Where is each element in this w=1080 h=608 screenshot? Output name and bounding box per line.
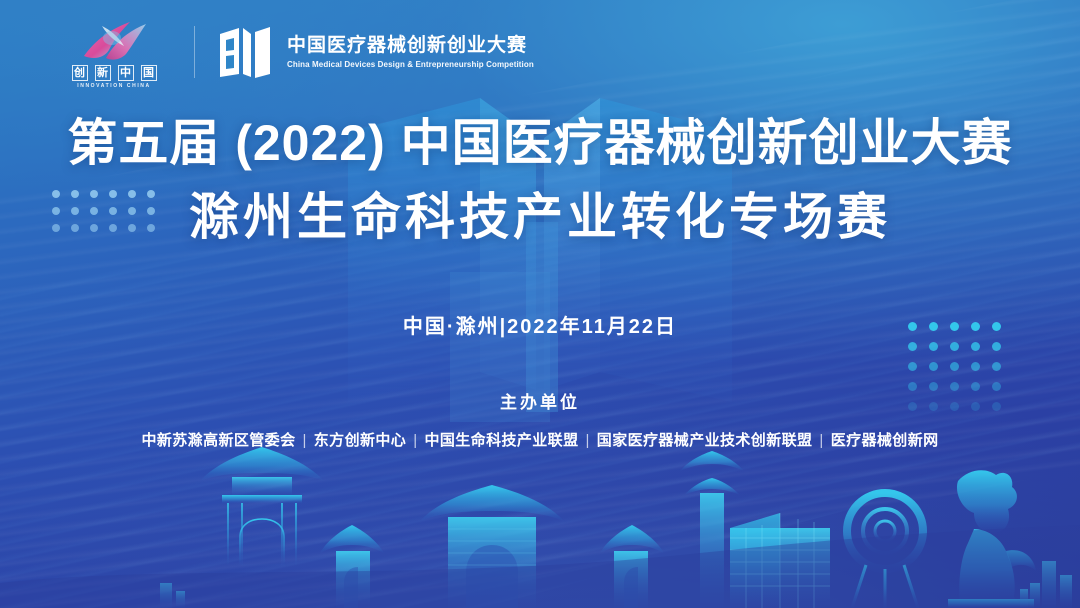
organizer-separator: |: [812, 432, 830, 449]
decorative-dot: [971, 362, 980, 371]
organizer-separator: |: [579, 432, 597, 449]
char-3: 国: [141, 65, 157, 81]
decorative-dot: [950, 362, 959, 371]
bird-swirl-icon: [76, 16, 152, 62]
organizers-section: 主办单位 中新苏滁高新区管委会|东方创新中心|中国生命科技产业联盟|国家医疗器械…: [0, 388, 1080, 450]
organizer-item: 中国生命科技产业联盟: [424, 432, 578, 449]
decorative-dot: [908, 342, 917, 351]
innovation-china-english: INNOVATION CHINA: [77, 83, 150, 89]
date-location-line: 中国·滁州|2022年11月22日: [0, 310, 1080, 339]
competition-name-zh: 中国医疗器械创新创业大赛: [287, 35, 534, 57]
decorative-dot: [929, 362, 938, 371]
decorative-dot: [950, 342, 959, 351]
poster-title: 第五届 (2022) 中国医疗器械创新创业大赛 滁州生命科技产业转化专场赛: [0, 112, 1080, 248]
competition-name-en: China Medical Devices Design & Entrepren…: [287, 59, 534, 70]
chinese-tower-icon: [680, 451, 744, 608]
poster-header: 创 新 中 国 INNOVATION CHINA 中国医疗器械创新创业大赛 Ch…: [0, 0, 1080, 104]
organizer-item: 东方创新中心: [314, 432, 406, 449]
decorative-dot: [971, 342, 980, 351]
char-2: 中: [118, 65, 134, 81]
char-1: 新: [95, 65, 111, 81]
organizers-label: 主办单位: [0, 388, 1080, 413]
decorative-dot: [992, 362, 1001, 371]
chinese-city-gate-icon: [320, 485, 664, 608]
innovation-china-chars: 创 新 中 国: [72, 65, 157, 81]
chinese-pavilion-icon: [200, 447, 324, 567]
char-0: 创: [72, 65, 88, 81]
event-poster: 创 新 中 国 INNOVATION CHINA 中国医疗器械创新创业大赛 Ch…: [0, 0, 1080, 608]
title-line-2: 滁州生命科技产业转化专场赛: [0, 186, 1080, 248]
organizer-separator: |: [295, 432, 313, 449]
open-book-gate-icon: [217, 24, 273, 80]
decorative-dot: [908, 362, 917, 371]
organizer-item: 国家医疗器械产业技术创新联盟: [597, 432, 813, 449]
innovation-china-logo: 创 新 中 国 INNOVATION CHINA: [62, 16, 166, 89]
organizer-separator: |: [406, 432, 424, 449]
city-skyline-silhouette: [0, 433, 1080, 608]
header-divider: [194, 26, 195, 78]
decorative-dot: [992, 342, 1001, 351]
competition-logo-text: 中国医疗器械创新创业大赛 China Medical Devices Desig…: [287, 35, 534, 70]
organizer-item: 医疗器械创新网: [831, 432, 939, 449]
competition-logo: 中国医疗器械创新创业大赛 China Medical Devices Desig…: [217, 24, 534, 80]
title-line-1: 第五届 (2022) 中国医疗器械创新创业大赛: [0, 112, 1080, 174]
city-buildings-icon: [160, 561, 1072, 608]
circular-sculpture-icon: [847, 493, 923, 608]
modern-office-tower-icon: [730, 513, 830, 608]
decorative-dot: [929, 342, 938, 351]
skyline-ground-overlay: [0, 525, 1080, 608]
merlion-statue-icon: [948, 470, 1036, 608]
organizers-list: 中新苏滁高新区管委会|东方创新中心|中国生命科技产业联盟|国家医疗器械产业技术创…: [0, 429, 1080, 450]
organizer-item: 中新苏滁高新区管委会: [141, 432, 295, 449]
